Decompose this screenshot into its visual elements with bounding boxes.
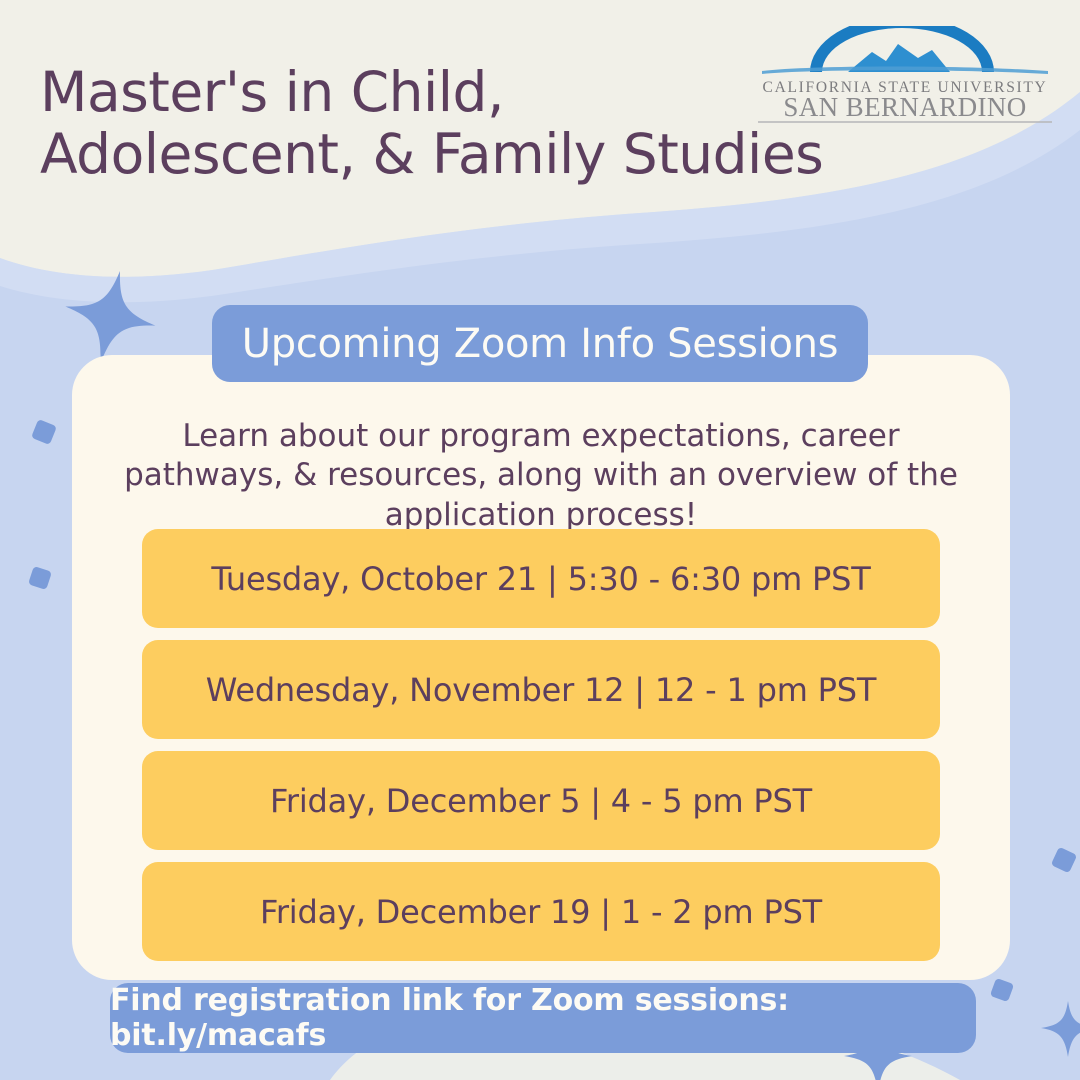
csusb-logo: CALIFORNIA STATE UNIVERSITY SAN BERNARDI… [752,26,1058,124]
session-label: Wednesday, November 12 | 12 - 1 pm PST [206,671,876,709]
page-title: Master's in Child, Adolescent, & Family … [40,62,823,185]
banner-label: Upcoming Zoom Info Sessions [242,321,838,367]
poster-header: Master's in Child, Adolescent, & Family … [0,0,1080,230]
session-row[interactable]: Tuesday, October 21 | 5:30 - 6:30 pm PST [142,529,940,628]
session-label: Tuesday, October 21 | 5:30 - 6:30 pm PST [211,560,870,598]
upcoming-sessions-banner: Upcoming Zoom Info Sessions [212,305,868,382]
registration-link-label: Find registration link for Zoom sessions… [110,983,976,1053]
session-row[interactable]: Friday, December 5 | 4 - 5 pm PST [142,751,940,850]
registration-link-bar[interactable]: Find registration link for Zoom sessions… [110,983,976,1053]
card-description: Learn about our program expectations, ca… [112,417,970,535]
session-label: Friday, December 19 | 1 - 2 pm PST [260,893,822,931]
session-row[interactable]: Friday, December 19 | 1 - 2 pm PST [142,862,940,961]
poster-canvas: Master's in Child, Adolescent, & Family … [0,0,1080,1080]
session-label: Friday, December 5 | 4 - 5 pm PST [270,782,812,820]
logo-swoosh [762,67,1048,75]
logo-line2: SAN BERNARDINO [783,92,1026,122]
sessions-list: Tuesday, October 21 | 5:30 - 6:30 pm PST… [142,529,940,961]
session-row[interactable]: Wednesday, November 12 | 12 - 1 pm PST [142,640,940,739]
sessions-card: Learn about our program expectations, ca… [72,355,1010,980]
csusb-logo-svg: CALIFORNIA STATE UNIVERSITY SAN BERNARDI… [752,26,1058,124]
